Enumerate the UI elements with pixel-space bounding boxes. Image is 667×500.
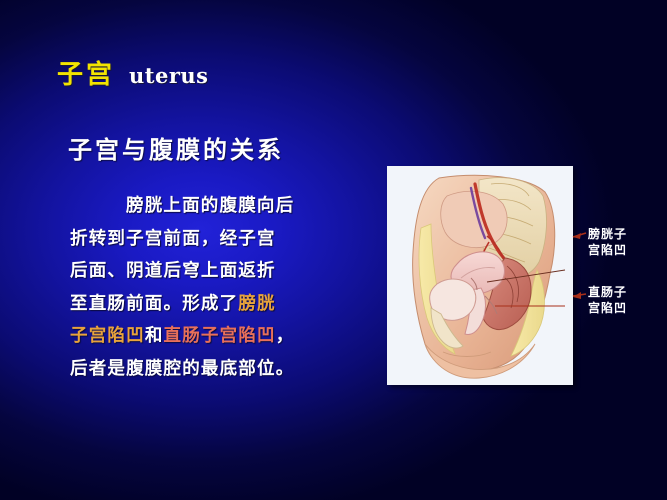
body-line: 子宫陷凹和直肠子宫陷凹， (70, 320, 322, 353)
figure-label-line: 宫陷凹 (588, 300, 627, 316)
figure-label-vesicouterine-pouch: 膀胱子 宫陷凹 (588, 226, 627, 258)
body-segment: 后者是腹膜腔的最底部位。 (70, 359, 294, 379)
body-segment: 至直肠前面。形成了 (70, 294, 238, 314)
body-segment: 后面、阴道后穹上面返折 (70, 261, 276, 281)
body-line: 膀胱上面的腹膜向后 (70, 190, 322, 223)
page-title-chinese: 子宫 (57, 54, 115, 91)
anatomy-figure (387, 166, 573, 385)
body-line: 至直肠前面。形成了膀胱 (70, 288, 322, 321)
body-segment: 膀胱上面的腹膜向后 (126, 196, 294, 216)
presentation-slide: 子宫 uterus 子宫与腹膜的关系 膀胱上面的腹膜向后 折转到子宫前面，经子宫… (0, 0, 667, 500)
body-paragraph: 膀胱上面的腹膜向后 折转到子宫前面，经子宫 后面、阴道后穹上面返折 至直肠前面。… (70, 190, 322, 385)
figure-label-rectouterine-pouch: 直肠子 宫陷凹 (588, 284, 627, 316)
body-line: 折转到子宫前面，经子宫 (70, 223, 322, 256)
anatomy-illustration (387, 166, 573, 385)
leader-vesicouterine (573, 233, 586, 239)
leader-rectouterine (573, 292, 586, 299)
figure-label-line: 宫陷凹 (588, 242, 627, 258)
arrow-head-icon (573, 292, 581, 299)
page-title-english: uterus (129, 63, 208, 88)
body-segment: 和 (145, 326, 164, 346)
body-segment: ， (276, 326, 295, 346)
body-segment-highlight: 膀胱 (238, 294, 275, 314)
arrow-head-icon (573, 233, 581, 239)
body-line: 后者是腹膜腔的最底部位。 (70, 353, 322, 386)
body-segment-highlight: 子宫陷凹 (70, 326, 145, 346)
body-segment: 折转到子宫前面，经子宫 (70, 229, 276, 249)
body-line: 后面、阴道后穹上面返折 (70, 255, 322, 288)
figure-label-line: 膀胱子 (588, 226, 627, 242)
body-segment-highlight: 直肠子宫陷凹 (164, 326, 276, 346)
section-subtitle: 子宫与腹膜的关系 (68, 130, 284, 165)
page-title: 子宫 uterus (57, 54, 209, 91)
figure-label-line: 直肠子 (588, 284, 627, 300)
